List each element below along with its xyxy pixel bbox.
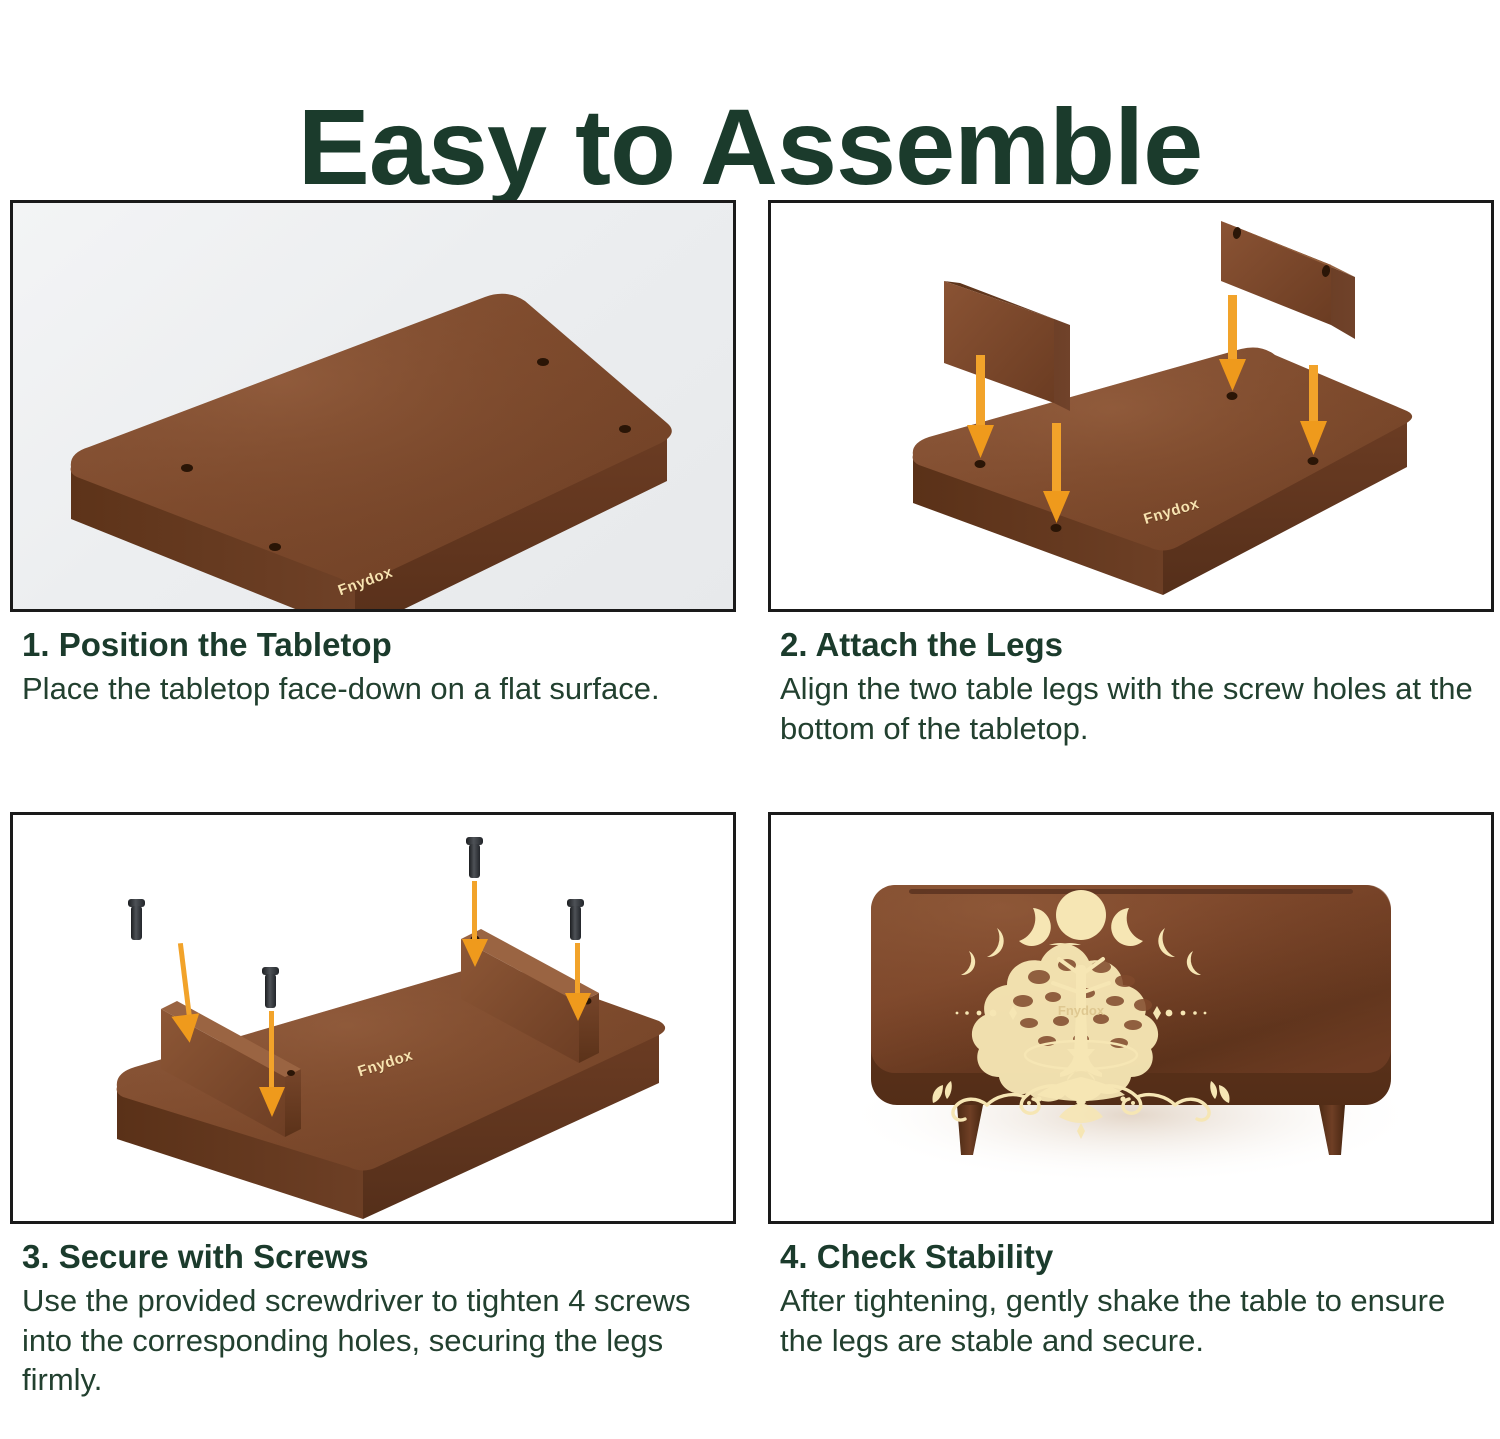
step-4-figure: Finished brown folding table standing up… xyxy=(768,812,1494,1224)
step-3-figure: Legs standing on the tabletop with four … xyxy=(10,812,736,1224)
step-4-caption: 4. Check Stability After tightening, gen… xyxy=(768,1224,1494,1360)
step-3-description: Use the provided screwdriver to tighten … xyxy=(22,1281,722,1400)
table-leg-right xyxy=(1221,221,1355,339)
screw-hole xyxy=(537,358,549,366)
step-1-description: Place the tabletop face-down on a flat s… xyxy=(22,669,722,709)
screw-hole xyxy=(269,543,281,551)
step-card-3: Legs standing on the tabletop with four … xyxy=(10,812,736,1400)
step-1-figure: Brown rectangular tabletop lying face-do… xyxy=(10,200,736,612)
step-4-description: After tightening, gently shake the table… xyxy=(780,1281,1480,1360)
step-1-title: 1. Position the Tabletop xyxy=(22,626,726,665)
steps-grid: Brown rectangular tabletop lying face-do… xyxy=(10,200,1494,1439)
screw-hole xyxy=(619,425,631,433)
secure-screws-illustration: Fnydox xyxy=(13,815,733,1221)
attach-legs-svg xyxy=(771,203,1491,609)
finished-table-illustration: Fnydox xyxy=(771,815,1491,1221)
tabletop-illustration: Fnydox xyxy=(13,203,733,609)
screw-hole xyxy=(975,460,986,468)
secure-screws-svg xyxy=(13,815,733,1221)
tabletop-slab xyxy=(55,281,683,612)
screw xyxy=(262,967,279,1008)
brand-logo-engraved: Fnydox xyxy=(1058,1003,1105,1018)
table-leg-left xyxy=(944,281,1070,411)
screw-hole xyxy=(181,464,193,472)
step-card-1: Brown rectangular tabletop lying face-do… xyxy=(10,200,736,709)
screw-hole xyxy=(1308,457,1319,465)
step-4-title: 4. Check Stability xyxy=(780,1238,1484,1277)
finished-table-svg: Fnydox xyxy=(771,815,1491,1221)
step-card-2: Two brown table legs floating above the … xyxy=(768,200,1494,748)
step-1-caption: 1. Position the Tabletop Place the table… xyxy=(10,612,736,709)
attach-legs-illustration: Fnydox xyxy=(771,203,1491,609)
assembly-instructions-page: Easy to Assemble Brown rectangular table… xyxy=(0,0,1500,1439)
step-2-description: Align the two table legs with the screw … xyxy=(780,669,1480,748)
step-3-title: 3. Secure with Screws xyxy=(22,1238,726,1277)
screw-hole xyxy=(1227,392,1238,400)
step-3-caption: 3. Secure with Screws Use the provided s… xyxy=(10,1224,736,1400)
screw xyxy=(567,899,584,940)
step-2-figure: Two brown table legs floating above the … xyxy=(768,200,1494,612)
step-2-caption: 2. Attach the Legs Align the two table l… xyxy=(768,612,1494,748)
screw xyxy=(466,837,483,878)
screw xyxy=(128,899,145,940)
step-2-title: 2. Attach the Legs xyxy=(780,626,1484,665)
leg-screw-hole xyxy=(287,1070,295,1076)
screw-hole xyxy=(1051,524,1062,532)
tabletop-svg xyxy=(55,281,683,612)
step-card-4: Finished brown folding table standing up… xyxy=(768,812,1494,1360)
